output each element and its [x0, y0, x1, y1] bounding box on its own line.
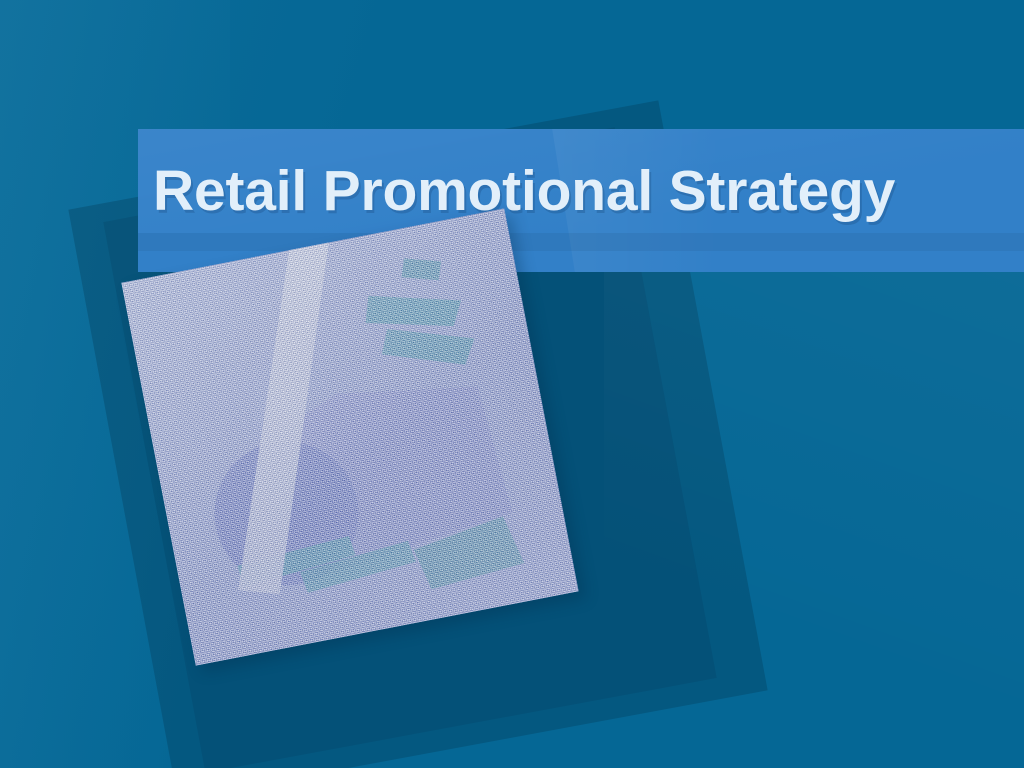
slide-title: Retail Promotional Strategy [153, 162, 895, 222]
title-banner: Retail Promotional Strategy [138, 129, 1024, 272]
artwork-frame [121, 208, 578, 665]
artwork-image [121, 208, 578, 665]
title-slide: Retail Promotional Strategy [0, 0, 1024, 768]
artwork-shapes [121, 208, 578, 665]
banner-lower-band [138, 233, 1024, 251]
